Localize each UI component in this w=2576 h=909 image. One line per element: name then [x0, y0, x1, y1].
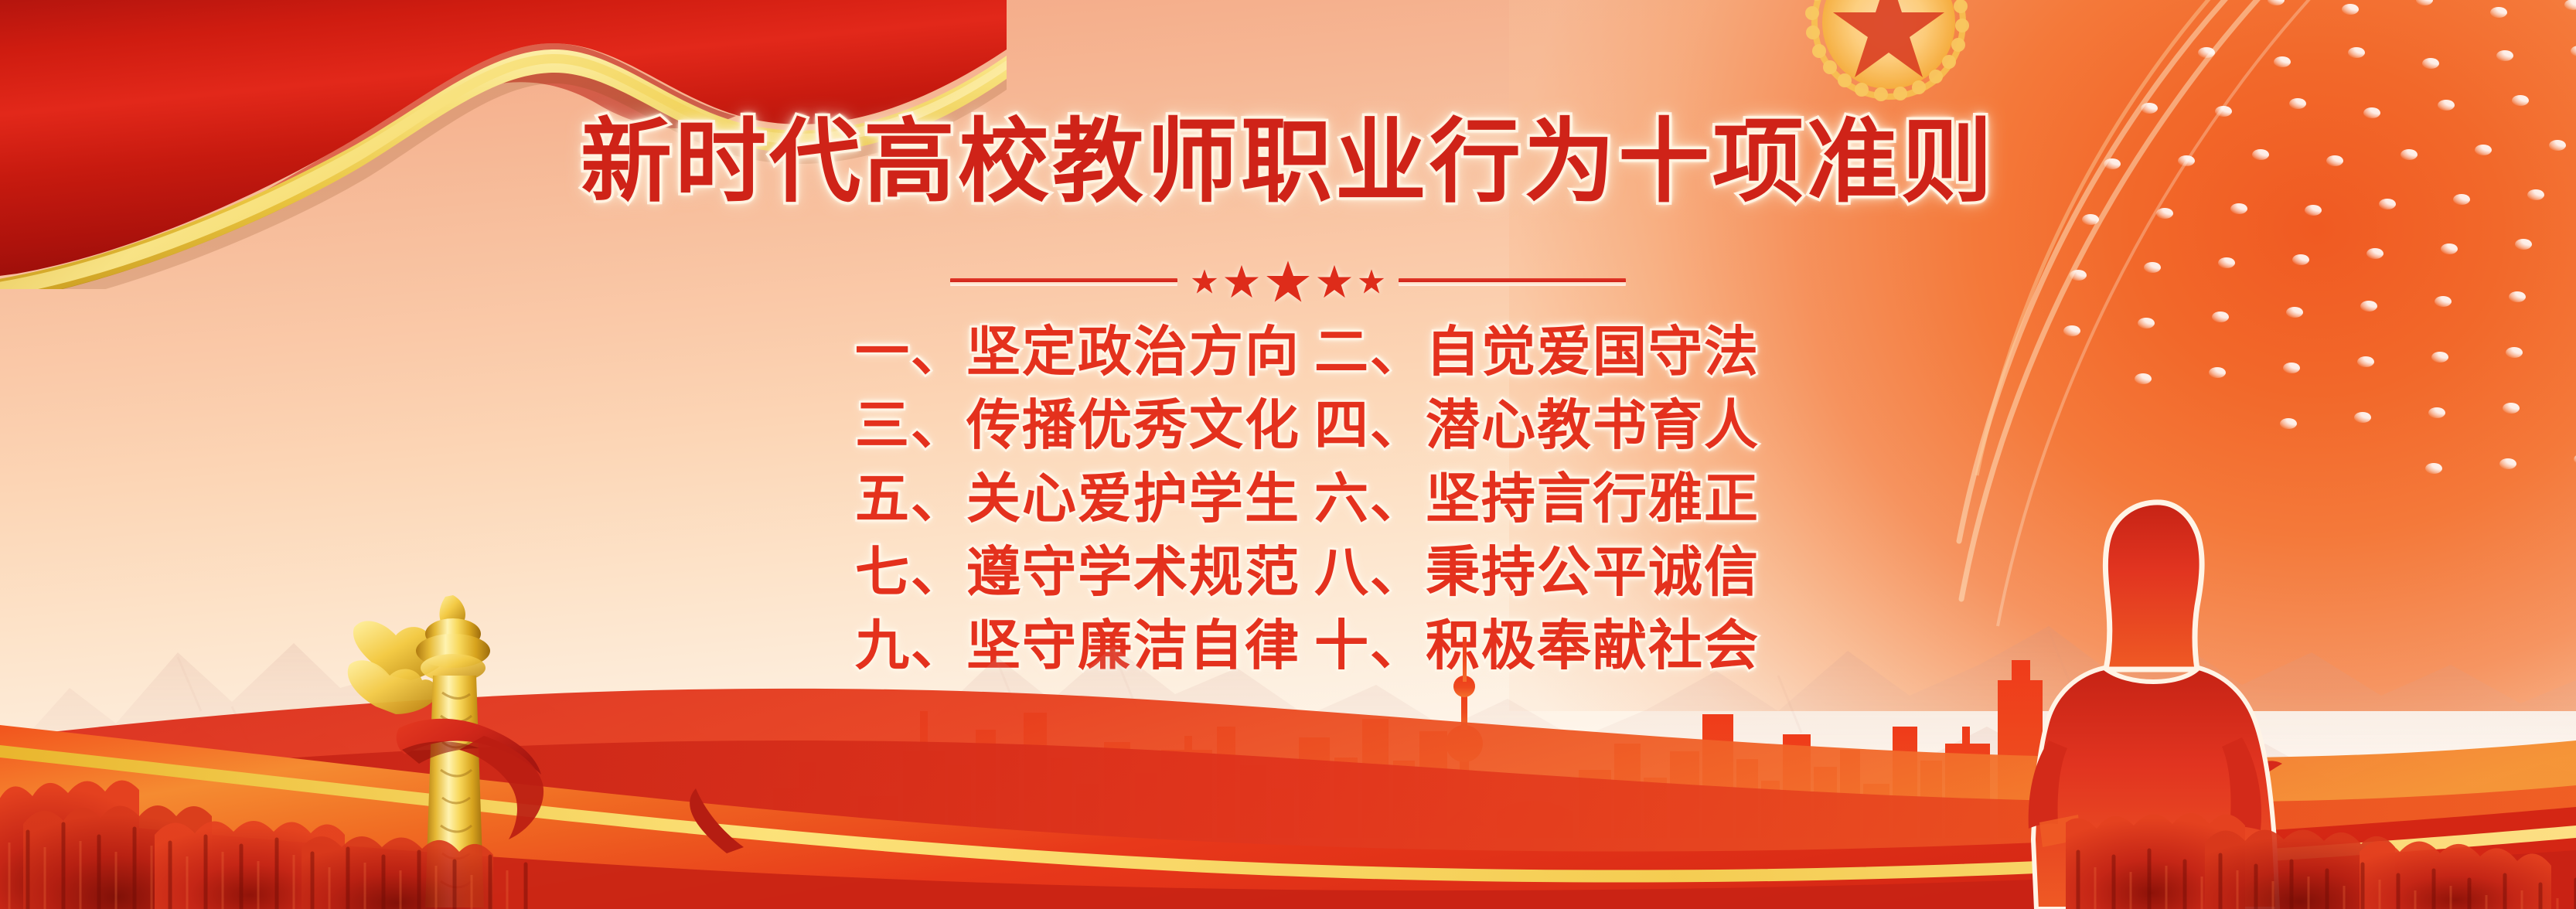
five-pointed-star-icon — [1358, 268, 1385, 294]
poster-banner: 新时代高校教师职业行为十项准则 一、坚定政治方向 二、自觉爱国 — [0, 0, 2576, 909]
national-emblem-star-wreath-icon — [1792, 0, 1985, 119]
divider-line-left — [950, 278, 1177, 285]
guideline-item-4: 四、潜心教书育人 — [1288, 389, 1721, 462]
guideline-item-1: 一、坚定政治方向 — [855, 315, 1288, 389]
red-peony-flowers — [2066, 703, 2576, 909]
divider-line-right — [1399, 278, 1626, 285]
page-title: 新时代高校教师职业行为十项准则 — [0, 116, 2576, 207]
divider-stars — [1191, 259, 1385, 304]
divider — [0, 259, 2576, 304]
guideline-item-3: 三、传播优秀文化 — [855, 389, 1288, 462]
five-pointed-star-icon — [1317, 264, 1352, 299]
guidelines-row: 一、坚定政治方向 二、自觉爱国守法 — [855, 315, 1721, 389]
five-pointed-star-icon — [1191, 268, 1218, 294]
guidelines-row: 三、传播优秀文化 四、潜心教书育人 — [855, 389, 1721, 462]
five-pointed-star-icon — [1224, 264, 1259, 299]
red-peony-flowers — [0, 688, 564, 909]
guideline-item-2: 二、自觉爱国守法 — [1288, 315, 1721, 389]
bottom-decoration — [0, 476, 2576, 909]
five-pointed-star-icon — [1266, 259, 1310, 304]
